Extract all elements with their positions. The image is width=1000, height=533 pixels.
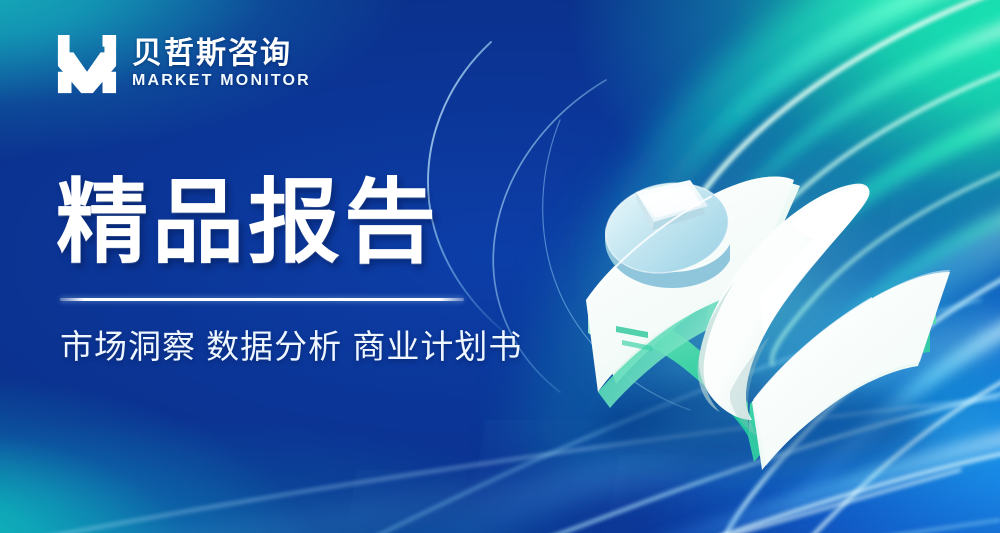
hero-text-block: 精品报告 市场洞察 数据分析 商业计划书 bbox=[56, 175, 522, 363]
brand-logo-text: 贝哲斯咨询 MARKET MONITOR bbox=[132, 39, 311, 89]
page-title: 精品报告 bbox=[56, 175, 522, 273]
report-banner: 贝哲斯咨询 MARKET MONITOR 精品报告 市场洞察 数据分析 商业计划… bbox=[0, 0, 1000, 533]
market-monitor-m-mark-icon bbox=[56, 33, 118, 95]
brand-logo[interactable]: 贝哲斯咨询 MARKET MONITOR bbox=[56, 33, 311, 95]
open-book-illustration bbox=[565, 150, 950, 470]
brand-name-en: MARKET MONITOR bbox=[132, 73, 311, 89]
title-divider bbox=[60, 298, 464, 301]
brand-name-cn: 贝哲斯咨询 bbox=[132, 39, 311, 69]
page-subtitle: 市场洞察 数据分析 商业计划书 bbox=[60, 330, 522, 363]
